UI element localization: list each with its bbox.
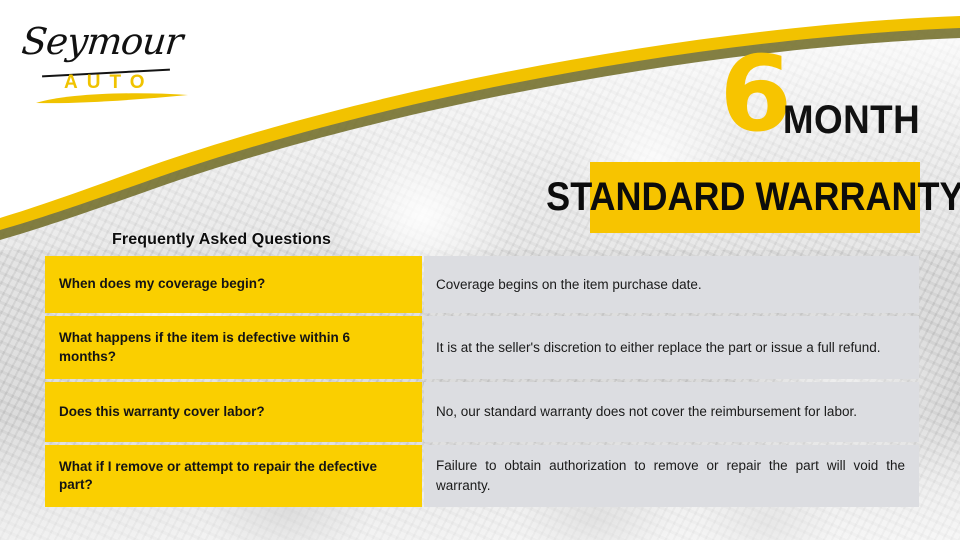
standard-warranty-banner: STANDARD WARRANTY [590, 162, 920, 233]
faq-question-cell: When does my coverage begin? [45, 256, 422, 313]
faq-answer-cell: It is at the seller's discretion to eith… [424, 316, 919, 379]
warranty-headline: 6 MONTH [590, 50, 922, 155]
faq-question-text: What happens if the item is defective wi… [59, 329, 408, 365]
logo-wordmark: Seymour [20, 20, 185, 63]
faq-heading: Frequently Asked Questions [112, 231, 331, 249]
table-row: What happens if the item is defective wi… [45, 316, 919, 379]
faq-answer-text: Coverage begins on the item purchase dat… [436, 275, 905, 295]
faq-question-text: What if I remove or attempt to repair th… [59, 458, 408, 494]
warranty-slide: Seymour AUTO 6 MONTH STANDARD WARRANTY F… [0, 0, 960, 540]
faq-table: When does my coverage begin? Coverage be… [45, 256, 919, 507]
warranty-months-number: 6 [720, 42, 790, 146]
faq-answer-text: No, our standard warranty does not cover… [436, 402, 905, 422]
seymour-auto-logo: Seymour AUTO [12, 12, 202, 108]
faq-answer-text: Failure to obtain authorization to remov… [436, 456, 905, 495]
logo-subtitle: AUTO [64, 72, 153, 94]
faq-answer-cell: Coverage begins on the item purchase dat… [424, 256, 919, 313]
faq-question-text: Does this warranty cover labor? [59, 403, 265, 421]
faq-answer-cell: Failure to obtain authorization to remov… [424, 445, 919, 507]
table-row: What if I remove or attempt to repair th… [45, 445, 919, 507]
warranty-months-label: MONTH [783, 98, 920, 143]
faq-question-cell: Does this warranty cover labor? [45, 382, 422, 442]
faq-question-cell: What if I remove or attempt to repair th… [45, 445, 422, 507]
table-row: Does this warranty cover labor? No, our … [45, 382, 919, 442]
table-row: When does my coverage begin? Coverage be… [45, 256, 919, 313]
faq-question-text: When does my coverage begin? [59, 275, 265, 293]
faq-question-cell: What happens if the item is defective wi… [45, 316, 422, 379]
standard-warranty-banner-text: STANDARD WARRANTY [546, 175, 960, 220]
faq-answer-cell: No, our standard warranty does not cover… [424, 382, 919, 442]
faq-answer-text: It is at the seller's discretion to eith… [436, 338, 905, 358]
